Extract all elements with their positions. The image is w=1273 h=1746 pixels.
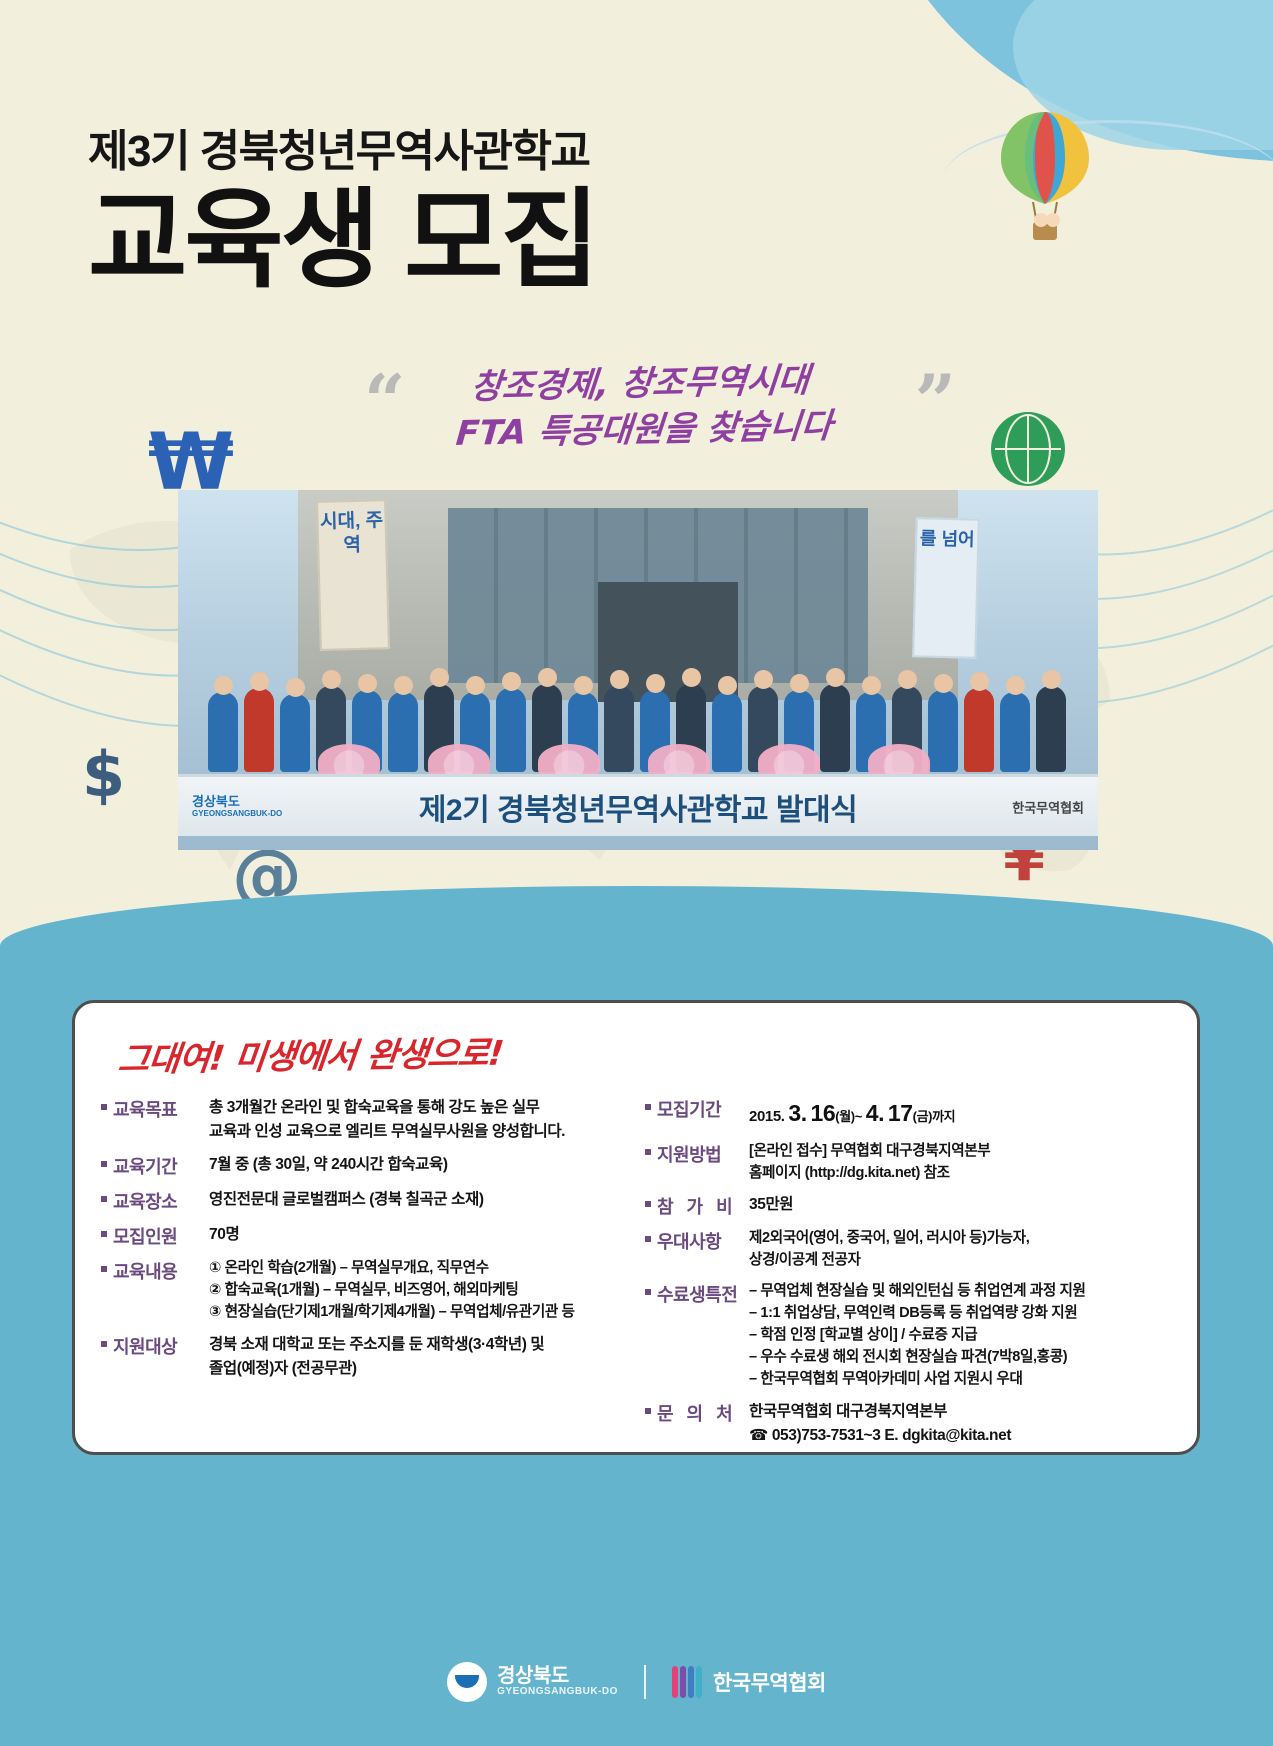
info-row-curriculum: 교육내용 ① 온라인 학습(2개월) – 무역실무개요, 직무연수 ② 합숙교육… xyxy=(101,1258,631,1324)
event-photo: 시대, 주역 를 넘어 xyxy=(178,490,1098,850)
contact-phone-email: ☎ 053)753-7531~3 E. dgkita@kita.net xyxy=(749,1424,1171,1448)
recruit-end-month: 4. xyxy=(866,1100,884,1126)
recruit-end-day: 17 xyxy=(888,1100,913,1126)
row-label: 참 가 비 xyxy=(645,1193,749,1219)
row-label: 문 의 처 xyxy=(645,1400,749,1426)
kita-mark-icon xyxy=(672,1666,704,1698)
recruit-end-dow: (금)까지 xyxy=(913,1109,956,1124)
row-value: [온라인 접수] 무역협회 대구경북지역본부 홈페이지 (http://dg.k… xyxy=(749,1141,1171,1185)
info-row-benefits: 수료생특전 – 무역업체 현장실습 및 해외인턴십 등 취업연계 과정 지원 –… xyxy=(645,1281,1171,1390)
row-label: 지원방법 xyxy=(645,1141,749,1167)
row-label: 우대사항 xyxy=(645,1228,749,1254)
row-label: 지원대상 xyxy=(101,1333,209,1359)
info-row-how-to-apply: 지원방법 [온라인 접수] 무역협회 대구경북지역본부 홈페이지 (http:/… xyxy=(645,1141,1171,1185)
footer-logos: 경상북도 GYEONGSANGBUK-DO 한국무역협회 xyxy=(0,1662,1273,1702)
info-card: 그대여! 미생에서 완생으로! 교육목표 총 3개월간 온라인 및 합숙교육을 … xyxy=(72,1000,1200,1455)
info-row-fee: 참 가 비 35만원 xyxy=(645,1193,1171,1219)
gyeongsangbuk-do-label-en: GYEONGSANGBUK-DO xyxy=(497,1687,618,1698)
info-row-application-period: 모집기간 2015. 3. 16(월)~ 4. 17(금)까지 xyxy=(645,1096,1171,1132)
info-columns: 교육목표 총 3개월간 온라인 및 합숙교육을 통해 강도 높은 실무 교육과 … xyxy=(101,1096,1171,1457)
row-label: 교육목표 xyxy=(101,1096,209,1122)
globe-icon xyxy=(991,412,1065,486)
row-value: ① 온라인 학습(2개월) – 무역실무개요, 직무연수 ② 합숙교육(1개월)… xyxy=(209,1258,631,1324)
info-column-right: 모집기간 2015. 3. 16(월)~ 4. 17(금)까지 지원방법 [온라… xyxy=(645,1096,1171,1457)
row-value: 경북 소재 대학교 또는 주소지를 둔 재학생(3·4학년) 및 졸업(예정)자… xyxy=(209,1333,631,1381)
gyeongsangbuk-do-mark-icon xyxy=(447,1662,487,1702)
hot-air-balloon-icon xyxy=(985,108,1105,268)
row-label: 모집인원 xyxy=(101,1223,209,1249)
row-label: 교육장소 xyxy=(101,1188,209,1214)
headline-block: 제3기 경북청년무역사관학교 교육생 모집 xyxy=(88,128,908,299)
recruit-start-dow: (월)~ xyxy=(835,1109,862,1124)
gyeongsangbuk-do-logo: 경상북도 GYEONGSANGBUK-DO xyxy=(447,1662,618,1702)
poster-title: 교육생 모집 xyxy=(88,182,908,299)
gyeongsangbuk-do-label-ko: 경상북도 xyxy=(497,1666,618,1687)
recruit-start-month: 3. xyxy=(788,1100,806,1126)
info-row-goal: 교육목표 총 3개월간 온라인 및 합숙교육을 통해 강도 높은 실무 교육과 … xyxy=(101,1096,631,1144)
row-value: 2015. 3. 16(월)~ 4. 17(금)까지 xyxy=(749,1096,1171,1132)
row-label: 교육내용 xyxy=(101,1258,209,1284)
slogan-block: “ ” 창조경제, 창조무역시대 FTA 특공대원을 찾습니다 xyxy=(360,362,920,454)
row-label: 수료생특전 xyxy=(645,1281,749,1307)
info-row-headcount: 모집인원 70명 xyxy=(101,1223,631,1249)
row-value: 70명 xyxy=(209,1223,631,1247)
photo-event-banner: 경상북도 GYEONGSANGBUK-DO 제2기 경북청년무역사관학교 발대식… xyxy=(178,774,1098,836)
row-value: 영진전문대 글로벌캠퍼스 (경북 칠곡군 소재) xyxy=(209,1188,631,1212)
photo-banner-right-logo: 한국무역협회 xyxy=(1012,797,1084,816)
row-value: 제2외국어(영어, 중국어, 일어, 러시아 등)가능자, 상경/이공계 전공자 xyxy=(749,1228,1171,1272)
kita-label: 한국무역협회 xyxy=(713,1667,826,1697)
kita-logo: 한국무역협회 xyxy=(672,1666,826,1698)
recruit-year: 2015. xyxy=(749,1108,785,1125)
poster-eyebrow: 제3기 경북청년무역사관학교 xyxy=(88,128,908,176)
info-row-location: 교육장소 영진전문대 글로벌캠퍼스 (경북 칠곡군 소재) xyxy=(101,1188,631,1214)
recruit-start-day: 16 xyxy=(811,1100,836,1126)
row-value: – 무역업체 현장실습 및 해외인턴십 등 취업연계 과정 지원 – 1:1 취… xyxy=(749,1281,1171,1390)
row-value: 총 3개월간 온라인 및 합숙교육을 통해 강도 높은 실무 교육과 인성 교육… xyxy=(209,1096,631,1144)
info-column-left: 교육목표 총 3개월간 온라인 및 합숙교육을 통해 강도 높은 실무 교육과 … xyxy=(101,1096,631,1457)
row-value: 7월 중 (총 30일, 약 240시간 합숙교육) xyxy=(209,1153,631,1177)
bottom-panel-curve xyxy=(0,886,1273,1006)
photo-banner-left-logo: 경상북도 GYEONGSANGBUK-DO xyxy=(192,794,282,818)
dollar-symbol-icon: $ xyxy=(82,744,125,806)
poster-root: 제3기 경북청년무역사관학교 교육생 모집 “ ” 창조경제, 창조무역시대 F… xyxy=(0,0,1273,1746)
card-headline: 그대여! 미생에서 완생으로! xyxy=(116,1026,506,1082)
info-row-preferences: 우대사항 제2외국어(영어, 중국어, 일어, 러시아 등)가능자, 상경/이공… xyxy=(645,1228,1171,1272)
photo-banner-text: 제2기 경북청년무역사관학교 발대식 xyxy=(419,785,857,829)
row-value: 35만원 xyxy=(749,1193,1171,1217)
row-value: 한국무역협회 대구경북지역본부 ☎ 053)753-7531~3 E. dgki… xyxy=(749,1400,1171,1448)
info-row-eligibility: 지원대상 경북 소재 대학교 또는 주소지를 둔 재학생(3·4학년) 및 졸업… xyxy=(101,1333,631,1381)
globe-ring xyxy=(1005,414,1051,484)
info-row-period: 교육기간 7월 중 (총 30일, 약 240시간 합숙교육) xyxy=(101,1153,631,1179)
row-label: 모집기간 xyxy=(645,1096,749,1122)
row-label: 교육기간 xyxy=(101,1153,209,1179)
info-row-contact: 문 의 처 한국무역협회 대구경북지역본부 ☎ 053)753-7531~3 E… xyxy=(645,1400,1171,1448)
footer-divider xyxy=(644,1665,646,1699)
